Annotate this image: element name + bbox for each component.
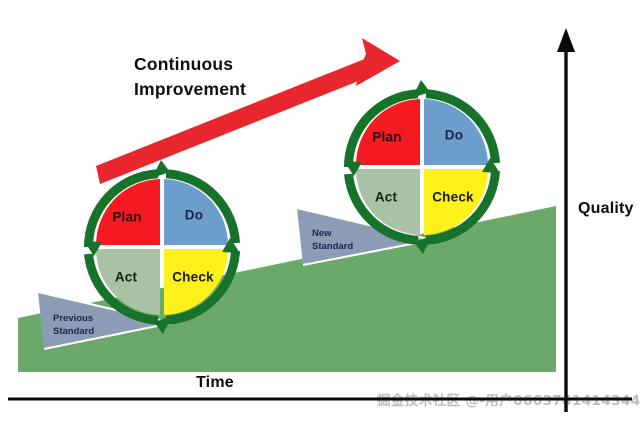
slope-base-trim: [18, 372, 556, 378]
continuous-improvement-title: Continuous Improvement: [134, 52, 324, 102]
quadrant-label-act-lower: Act: [115, 270, 137, 285]
new-standard-label: New Standard: [312, 228, 353, 253]
cycle-arrow-ring-upper: [349, 94, 496, 241]
quadrant-label-check-upper: Check: [432, 190, 474, 205]
quality-axis-label: Quality: [578, 200, 634, 218]
time-axis-label: Time: [196, 374, 234, 392]
axis-quality: [557, 28, 575, 412]
quadrant-label-plan-lower: Plan: [112, 210, 141, 225]
watermark-text: 掘金技术社区 @-用户0663741414344: [377, 389, 640, 409]
quadrant-label-plan-upper: Plan: [372, 130, 401, 145]
quadrant-label-do-lower: Do: [185, 208, 203, 223]
quadrant-label-do-upper: Do: [445, 128, 463, 143]
quadrant-label-check-lower: Check: [172, 270, 214, 285]
pdca-continuous-improvement-diagram: Continuous Improvement Quality Time Plan…: [0, 0, 640, 425]
previous-standard-label: Previous Standard: [53, 313, 94, 338]
quadrant-label-act-upper: Act: [375, 190, 397, 205]
